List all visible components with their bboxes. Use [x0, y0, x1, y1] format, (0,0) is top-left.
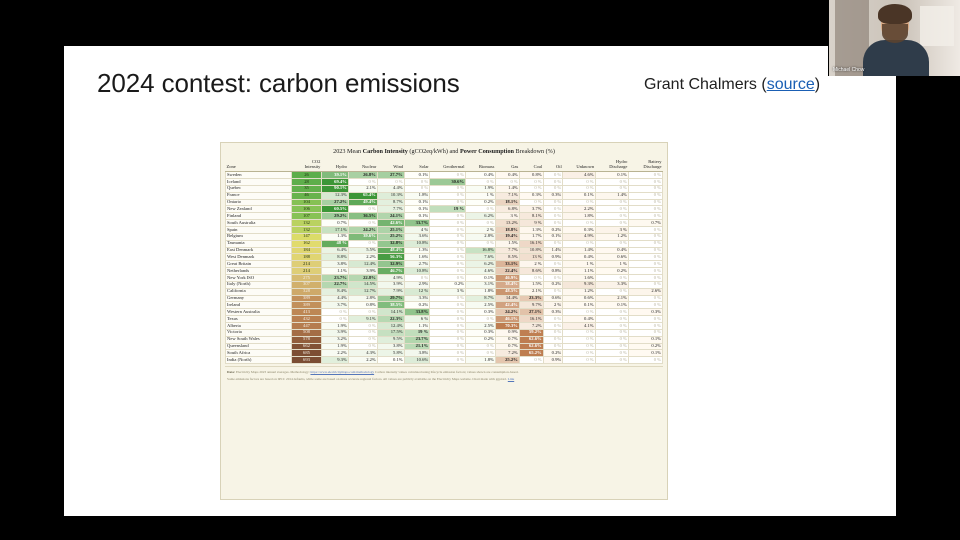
table-row: West Denmark1888.8%2.2%56.3%1.6%0 %7.6%8…: [226, 254, 663, 261]
share-cell: 1.4%: [563, 247, 595, 254]
zone-name-cell: India (North): [226, 357, 292, 364]
co2-intensity-cell: 693: [292, 357, 322, 364]
share-cell: 0 %: [348, 336, 377, 343]
co2-intensity-cell: 328: [292, 288, 322, 295]
zone-name-cell: Great Britain: [226, 261, 292, 268]
share-cell: 0 %: [563, 329, 595, 336]
share-cell: 59.2%: [519, 329, 543, 336]
share-cell: 0 %: [430, 247, 466, 254]
share-cell: 0 %: [348, 322, 377, 329]
share-cell: 0.7%: [628, 220, 662, 227]
table-row: Spain13217.1%24.2%25.1%4 %0 %2 %18.8%1.3…: [226, 226, 663, 233]
table-row: New South Wales5783.2%0 %9.5%23.7%0 %0.2…: [226, 336, 663, 343]
share-cell: 0.4%: [595, 247, 628, 254]
share-cell: 33.8%: [404, 309, 430, 316]
share-cell: 0 %: [430, 261, 466, 268]
share-cell: 10.3%: [377, 192, 404, 199]
share-cell: 4.9%: [377, 274, 404, 281]
figure-title-part-3: Breakdown (%): [514, 148, 555, 155]
share-cell: 3.6%: [404, 233, 430, 240]
share-cell: 0.8%: [543, 268, 563, 275]
share-cell: 26.8%: [348, 172, 377, 179]
share-cell: 0 %: [628, 185, 662, 192]
share-cell: 0 %: [430, 226, 466, 233]
share-cell: 1.8%: [404, 192, 430, 199]
share-cell: 0 %: [595, 185, 628, 192]
share-cell: 0 %: [563, 240, 595, 247]
share-cell: 0 %: [348, 343, 377, 350]
share-cell: 0 %: [430, 199, 466, 206]
share-cell: 29.2%: [321, 213, 348, 220]
zone-name-cell: Italy (North): [226, 281, 292, 288]
share-cell: 0 %: [430, 274, 466, 281]
share-cell: 3 %: [495, 213, 519, 220]
share-cell: 3.7%: [519, 206, 543, 213]
share-cell: 3.8%: [404, 350, 430, 357]
zone-name-cell: California: [226, 288, 292, 295]
share-cell: 33.1%: [495, 261, 519, 268]
zone-name-cell: Quebec: [226, 185, 292, 192]
share-cell: 0 %: [430, 213, 466, 220]
share-cell: 0 %: [628, 178, 662, 185]
share-cell: 8.7%: [466, 295, 496, 302]
share-cell: 24.2%: [495, 309, 519, 316]
share-cell: 1.3%: [321, 233, 348, 240]
share-cell: 32.8%: [377, 240, 404, 247]
share-cell: 0 %: [543, 206, 563, 213]
co2-intensity-cell: 46: [292, 192, 322, 199]
share-cell: 0.9%: [543, 254, 563, 261]
share-cell: 6.2%: [466, 213, 496, 220]
share-cell: 0 %: [628, 172, 662, 179]
table-row: Tasmania16248 %0 %32.8%10.8%0 %0 %1.5%16…: [226, 240, 663, 247]
share-cell: 62.6%: [519, 343, 543, 350]
share-cell: 2.2%: [321, 350, 348, 357]
share-cell: 60.5%: [321, 206, 348, 213]
carbon-intensity-figure: 2023 Mean Carbon Intensity (gCO2eq/kWh) …: [220, 142, 668, 500]
share-cell: 18.1%: [495, 199, 519, 206]
share-cell: 9.5%: [377, 336, 404, 343]
share-cell: 0.3%: [543, 192, 563, 199]
share-cell: 0.1%: [628, 336, 662, 343]
share-cell: 0 %: [348, 329, 377, 336]
share-cell: 0 %: [563, 309, 595, 316]
table-row: Texas4320 %9.1%22.3%6 %0 %0 %46.1%16.1%0…: [226, 316, 663, 323]
share-cell: 0 %: [628, 302, 662, 309]
share-cell: 3.1%: [466, 281, 496, 288]
share-cell: 0 %: [595, 240, 628, 247]
share-cell: 0 %: [628, 213, 662, 220]
share-cell: 0 %: [430, 268, 466, 275]
webcam-window: [920, 6, 954, 46]
share-cell: 16.1%: [519, 316, 543, 323]
share-cell: 90.1%: [321, 185, 348, 192]
share-cell: 8.8%: [321, 254, 348, 261]
share-cell: 0 %: [628, 295, 662, 302]
zone-name-cell: Iceland: [226, 178, 292, 185]
share-cell: 22.7%: [321, 281, 348, 288]
share-cell: 2.1%: [519, 288, 543, 295]
share-cell: 14.5%: [348, 281, 377, 288]
table-row: Western Australia4130 %0 %14.1%33.8%0 %0…: [226, 309, 663, 316]
share-cell: 7.2%: [519, 322, 543, 329]
webcam-overlay[interactable]: Michael Chow: [828, 0, 960, 76]
share-cell: 9.3%: [321, 357, 348, 364]
share-cell: 0 %: [321, 309, 348, 316]
footnote-line-2: Some emissions factors are based on IPCC…: [227, 377, 661, 382]
zone-name-cell: Sweden: [226, 172, 292, 179]
share-cell: 7.1%: [495, 192, 519, 199]
share-cell: 0.3%: [543, 309, 563, 316]
share-cell: 4.4%: [321, 295, 348, 302]
share-cell: 0.1%: [404, 213, 430, 220]
share-cell: 38.4%: [495, 281, 519, 288]
share-cell: 2.2%: [348, 254, 377, 261]
share-cell: 23.3%: [519, 295, 543, 302]
share-cell: 22.3%: [377, 316, 404, 323]
table-body: Sweden2639.1%26.8%27.7%0.1%0 %0.4%0.4%0.…: [226, 172, 663, 364]
share-cell: 0.1%: [404, 199, 430, 206]
share-cell: 16.8%: [466, 247, 496, 254]
share-cell: 0 %: [430, 295, 466, 302]
zone-name-cell: Tasmania: [226, 240, 292, 247]
share-cell: 0 %: [543, 288, 563, 295]
share-cell: 1.1%: [404, 322, 430, 329]
share-cell: 7.7%: [495, 247, 519, 254]
share-cell: 1.6%: [563, 274, 595, 281]
share-cell: 0 %: [543, 220, 563, 227]
share-cell: 23.7%: [321, 274, 348, 281]
share-cell: 0.3%: [466, 329, 496, 336]
share-cell: 3.2%: [321, 336, 348, 343]
share-cell: 18.8%: [495, 226, 519, 233]
share-cell: 2.1%: [348, 185, 377, 192]
share-cell: 12.4%: [377, 322, 404, 329]
share-cell: 0.6%: [595, 254, 628, 261]
share-cell: 0 %: [519, 357, 543, 364]
share-cell: 23.7%: [404, 336, 430, 343]
slide-header: 2024 contest: carbon emissions Grant Cha…: [64, 46, 896, 124]
share-cell: 0 %: [628, 329, 662, 336]
share-cell: 0 %: [595, 350, 628, 357]
share-cell: 70.3%: [495, 322, 519, 329]
column-header-hydro-discharge: HydroDischarge: [595, 160, 628, 172]
share-cell: 0 %: [430, 233, 466, 240]
share-cell: 0 %: [348, 206, 377, 213]
table-row: Belgium1471.3%39.6%25.2%3.6%0 %2.8%19.4%…: [226, 233, 663, 240]
share-cell: 22.4%: [495, 268, 519, 275]
share-cell: 0.8%: [348, 302, 377, 309]
share-cell: 0 %: [348, 220, 377, 227]
co2-intensity-cell: 447: [292, 322, 322, 329]
table-row: South Africa6852.2%4.3%5.8%3.8%0 %0 %7.2…: [226, 350, 663, 357]
share-cell: 7.6%: [466, 254, 496, 261]
zone-name-cell: Ireland: [226, 302, 292, 309]
co2-intensity-cell: 132: [292, 220, 322, 227]
share-cell: 0.1%: [563, 302, 595, 309]
share-cell: 0 %: [628, 268, 662, 275]
share-cell: 0 %: [543, 336, 563, 343]
share-cell: 48.4%: [377, 247, 404, 254]
column-header-solar: Solar: [404, 160, 430, 172]
share-cell: 0.2%: [595, 268, 628, 275]
share-cell: 9.7%: [519, 302, 543, 309]
table-row: Sweden2639.1%26.8%27.7%0.1%0 %0.4%0.4%0.…: [226, 172, 663, 179]
footnote-text-1: Electricity Maps 2023 annual averages. M…: [236, 370, 310, 374]
source-link[interactable]: source: [767, 76, 815, 93]
share-cell: 0 %: [430, 322, 466, 329]
table-row: Germany3894.4%2.8%29.7%3.3%0 %8.7%14.4%2…: [226, 295, 663, 302]
zone-name-cell: Germany: [226, 295, 292, 302]
share-cell: 25.1%: [377, 226, 404, 233]
share-cell: 0 %: [430, 357, 466, 364]
share-cell: 0 %: [377, 178, 404, 185]
zone-name-cell: South Africa: [226, 350, 292, 357]
share-cell: 8.7%: [377, 199, 404, 206]
share-cell: 30.6%: [430, 178, 466, 185]
share-cell: 22.8%: [348, 274, 377, 281]
share-cell: 0 %: [595, 336, 628, 343]
column-header-battery-discharge: BatteryDischarge: [628, 160, 662, 172]
share-cell: 0 %: [495, 178, 519, 185]
share-cell: 0 %: [595, 329, 628, 336]
share-cell: 0 %: [628, 316, 662, 323]
share-cell: 0 %: [430, 316, 466, 323]
share-cell: 9 %: [519, 220, 543, 227]
share-cell: 0 %: [595, 309, 628, 316]
co2-intensity-cell: 307: [292, 281, 322, 288]
zone-name-cell: Victoria: [226, 329, 292, 336]
zone-name-cell: Alberta: [226, 322, 292, 329]
co2-intensity-cell: 214: [292, 268, 322, 275]
table-row: Queensland6621.9%0 %3.8%21.1%0 %0 %0.7%6…: [226, 343, 663, 350]
share-cell: 0.4%: [563, 316, 595, 323]
share-cell: 69.4%: [321, 178, 348, 185]
share-cell: 0 %: [466, 206, 496, 213]
share-cell: 5.8%: [377, 350, 404, 357]
share-cell: 0 %: [628, 357, 662, 364]
table-row: New York ISO27523.7%22.8%4.9%0 %0 %0.1%4…: [226, 274, 663, 281]
figure-footnote: Data: Electricity Maps 2023 annual avera…: [225, 366, 663, 382]
share-cell: 0 %: [543, 316, 563, 323]
share-cell: 19 %: [430, 206, 466, 213]
share-cell: 3.8%: [377, 343, 404, 350]
share-cell: 25.2%: [377, 233, 404, 240]
zone-name-cell: South Australia: [226, 220, 292, 227]
co2-intensity-cell: 662: [292, 343, 322, 350]
share-cell: 1.4%: [543, 247, 563, 254]
share-cell: 0 %: [563, 350, 595, 357]
share-cell: 0 %: [628, 322, 662, 329]
share-cell: 24.1%: [377, 213, 404, 220]
share-cell: 2.2%: [348, 357, 377, 364]
column-header-geothermal: Geothermal: [430, 160, 466, 172]
share-cell: 19.4%: [495, 233, 519, 240]
share-cell: 0 %: [595, 357, 628, 364]
share-cell: 1.4%: [595, 192, 628, 199]
share-cell: 3.9%: [377, 281, 404, 288]
share-cell: 29.7%: [377, 295, 404, 302]
share-cell: 1.9%: [321, 343, 348, 350]
share-cell: 1.5%: [519, 281, 543, 288]
share-cell: 17.1%: [321, 226, 348, 233]
share-cell: 3 %: [595, 226, 628, 233]
share-cell: 25.2%: [495, 357, 519, 364]
share-cell: 0 %: [466, 316, 496, 323]
share-cell: 0 %: [404, 178, 430, 185]
table-row: California3288.4%12.7%7.9%12 %3 %1.8%48.…: [226, 288, 663, 295]
co2-intensity-cell: 107: [292, 213, 322, 220]
footnote-source-link[interactable]: Link: [508, 377, 514, 381]
share-cell: 46.7%: [377, 268, 404, 275]
share-cell: 0.2%: [628, 343, 662, 350]
share-cell: 3 %: [430, 288, 466, 295]
co2-intensity-cell: 413: [292, 309, 322, 316]
share-cell: 0.1%: [595, 172, 628, 179]
co2-intensity-cell: 147: [292, 233, 322, 240]
share-cell: 0.8%: [519, 172, 543, 179]
co2-intensity-cell: 188: [292, 254, 322, 261]
share-cell: 0 %: [430, 185, 466, 192]
zone-name-cell: Finland: [226, 213, 292, 220]
share-cell: 6 %: [404, 316, 430, 323]
share-cell: 1.2%: [563, 288, 595, 295]
co2-intensity-cell: 26: [292, 172, 322, 179]
share-cell: 0 %: [595, 213, 628, 220]
share-cell: 0 %: [404, 185, 430, 192]
share-cell: 49.4%: [348, 199, 377, 206]
share-cell: 0 %: [430, 240, 466, 247]
share-cell: 1.8%: [466, 357, 496, 364]
table-row: Victoria5083.9%0 %17.5%19 %0 %0.3%0.9%59…: [226, 329, 663, 336]
share-cell: 1.8%: [563, 213, 595, 220]
share-cell: 0 %: [430, 336, 466, 343]
share-cell: 0 %: [595, 220, 628, 227]
share-cell: 0 %: [543, 199, 563, 206]
share-cell: 0 %: [543, 322, 563, 329]
webcam-person-body: [863, 40, 929, 76]
share-cell: 0.2%: [466, 336, 496, 343]
share-cell: 0 %: [563, 336, 595, 343]
share-cell: 42.4%: [495, 302, 519, 309]
share-cell: 9.3%: [563, 281, 595, 288]
footnote-data-label: Data:: [227, 370, 235, 374]
share-cell: 46.9%: [495, 274, 519, 281]
share-cell: 0 %: [321, 316, 348, 323]
zone-name-cell: Texas: [226, 316, 292, 323]
share-cell: 0.2%: [404, 302, 430, 309]
share-cell: 0 %: [628, 261, 662, 268]
zone-name-cell: Ontario: [226, 199, 292, 206]
share-cell: 0 %: [543, 240, 563, 247]
share-cell: 0 %: [519, 274, 543, 281]
share-cell: 0.1%: [404, 206, 430, 213]
share-cell: 0 %: [543, 213, 563, 220]
share-cell: 17.5%: [377, 329, 404, 336]
share-cell: 0 %: [430, 329, 466, 336]
participant-name-label: Michael Chow: [833, 67, 864, 73]
share-cell: 1.1%: [321, 268, 348, 275]
footnote-methodology-link[interactable]: https://www.electricitymaps.com/methodol…: [310, 370, 374, 374]
share-cell: 0 %: [595, 199, 628, 206]
share-cell: 0 %: [519, 178, 543, 185]
table-row: South Australia1320.7%0 %42.6%33.7%0 %0 …: [226, 220, 663, 227]
share-cell: 0 %: [563, 185, 595, 192]
table-row: New Zealand10660.5%0 %7.7%0.1%19 %0 %6.8…: [226, 206, 663, 213]
share-cell: 0 %: [595, 316, 628, 323]
share-cell: 0.7%: [321, 220, 348, 227]
share-cell: 0 %: [563, 343, 595, 350]
share-cell: 5.5%: [348, 247, 377, 254]
share-cell: 0 %: [466, 343, 496, 350]
zone-name-cell: France: [226, 192, 292, 199]
share-cell: 8.5%: [495, 254, 519, 261]
column-header-hydro: Hydro: [321, 160, 348, 172]
share-cell: 0 %: [595, 343, 628, 350]
share-cell: 1.3%: [519, 226, 543, 233]
screen-recording-frame: 2024 contest: carbon emissions Grant Cha…: [0, 0, 960, 540]
share-cell: 0 %: [595, 288, 628, 295]
share-cell: 2.1%: [595, 295, 628, 302]
share-cell: 0.4%: [466, 172, 496, 179]
presentation-slide: 2024 contest: carbon emissions Grant Cha…: [64, 46, 896, 516]
share-cell: 9.1%: [348, 316, 377, 323]
share-cell: 0 %: [563, 357, 595, 364]
zone-name-cell: Spain: [226, 226, 292, 233]
share-cell: 1 %: [595, 261, 628, 268]
share-cell: 4.3%: [348, 350, 377, 357]
figure-title-part-1: 2023 Mean: [333, 148, 363, 155]
table-row: Great Britain2143.8%12.4%32.9%2.7%0 %6.2…: [226, 261, 663, 268]
share-cell: 27.2%: [321, 199, 348, 206]
share-cell: 0 %: [348, 309, 377, 316]
share-cell: 4.9%: [563, 233, 595, 240]
share-cell: 1.9%: [466, 185, 496, 192]
co2-intensity-cell: 214: [292, 261, 322, 268]
share-cell: 0 %: [543, 343, 563, 350]
share-cell: 8.1%: [519, 213, 543, 220]
share-cell: 8.4%: [321, 288, 348, 295]
co2-intensity-cell: 432: [292, 316, 322, 323]
footnote-line-1: Data: Electricity Maps 2023 annual avera…: [227, 370, 661, 375]
share-cell: 2 %: [543, 302, 563, 309]
share-cell: 0 %: [563, 178, 595, 185]
share-cell: 1 %: [563, 261, 595, 268]
webcam-person-hair: [878, 4, 912, 24]
share-cell: 0 %: [628, 247, 662, 254]
table-row: Netherlands2141.1%3.9%46.7%10.8%0 %4.6%2…: [226, 268, 663, 275]
share-cell: 0 %: [466, 178, 496, 185]
co2-intensity-cell: 104: [292, 199, 322, 206]
share-cell: 14.1%: [377, 309, 404, 316]
table-row: Iceland2869.4%0 %0 %0 %30.6%0 %0 %0 %0 %…: [226, 178, 663, 185]
share-cell: 62.6%: [519, 336, 543, 343]
share-cell: 3.7%: [321, 302, 348, 309]
column-header-co2-intensity: CO2Intensity: [292, 160, 322, 172]
share-cell: 0 %: [466, 240, 496, 247]
share-cell: 3.3%: [404, 295, 430, 302]
table-header-row: ZoneCO2IntensityHydroNuclearWindSolarGeo…: [226, 160, 663, 172]
share-cell: 10.8%: [404, 240, 430, 247]
co2-intensity-cell: 35: [292, 185, 322, 192]
share-cell: 0.1%: [466, 274, 496, 281]
share-cell: 6.4%: [321, 247, 348, 254]
column-header-zone: Zone: [226, 160, 292, 172]
share-cell: 12.7%: [348, 288, 377, 295]
table-row: East Denmark1846.4%5.5%48.4%1.3%0 %16.8%…: [226, 247, 663, 254]
webcam-person-beard: [882, 24, 908, 43]
share-cell: 0 %: [430, 220, 466, 227]
